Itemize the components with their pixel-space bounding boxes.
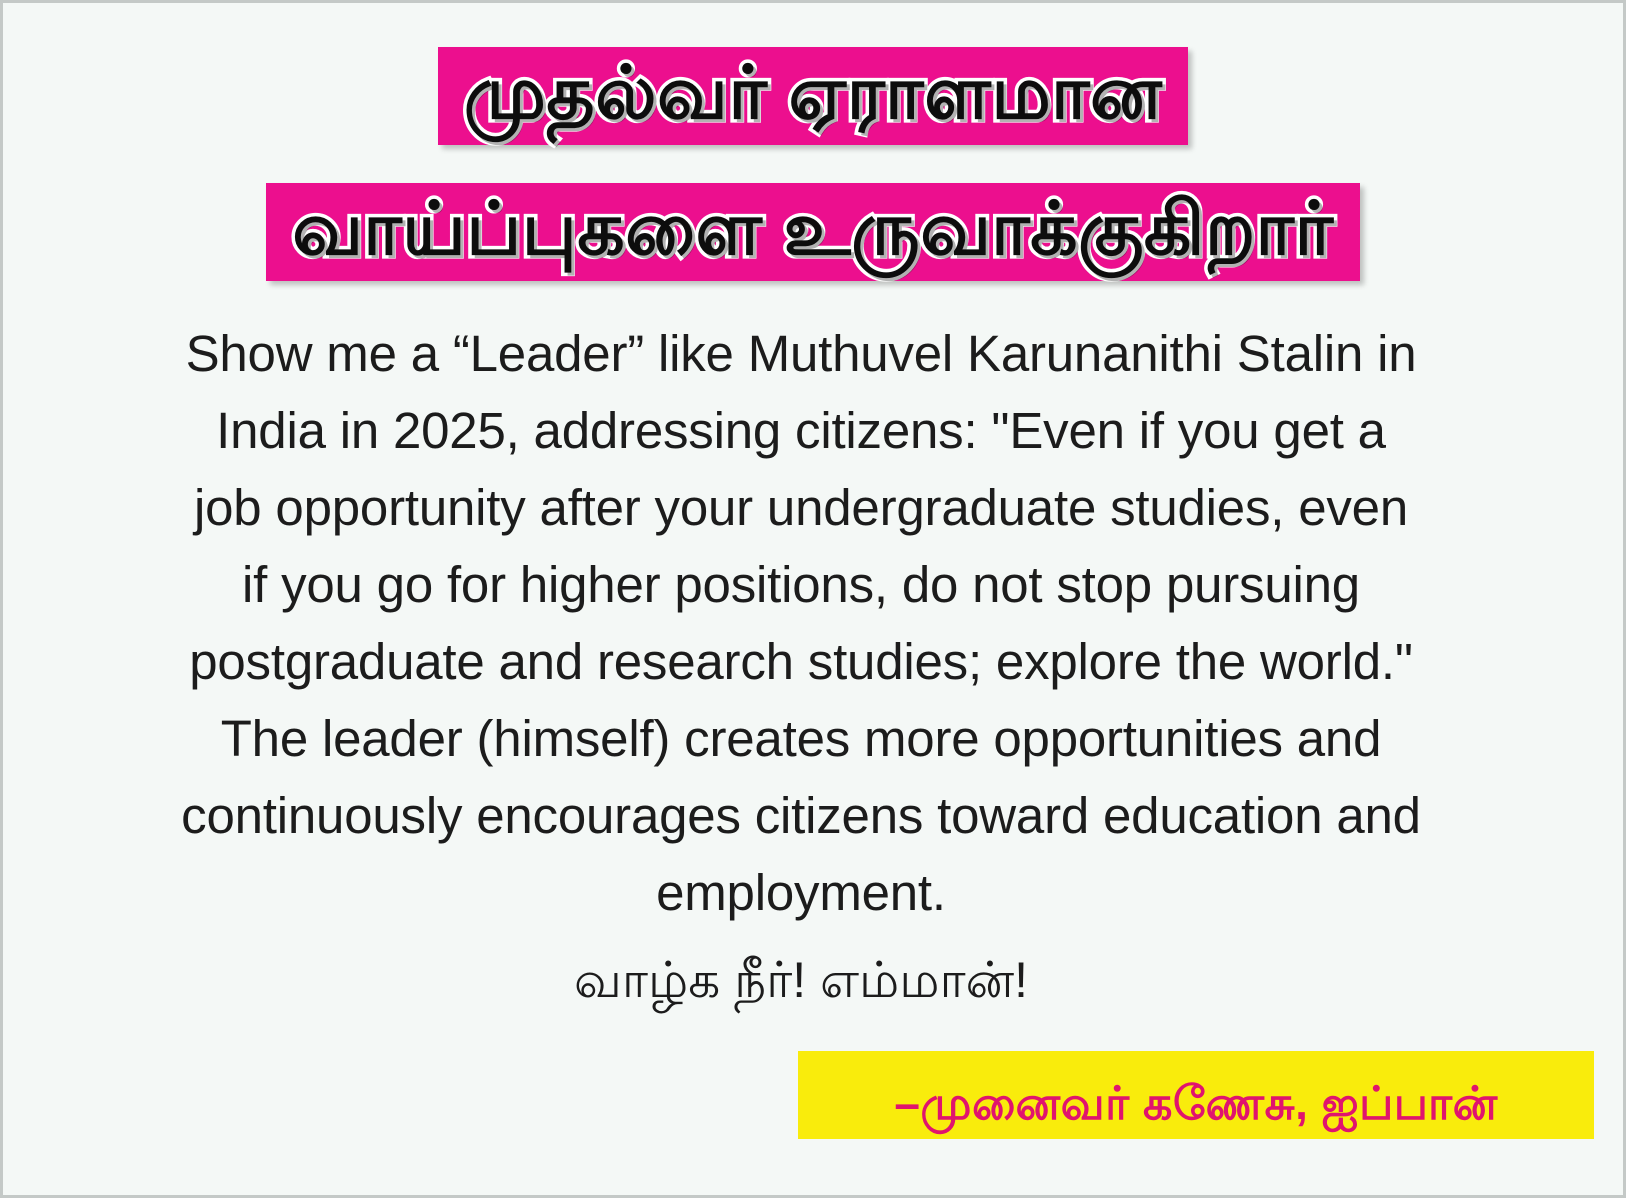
body-line: postgraduate and research studies; explo… bbox=[65, 623, 1537, 700]
body-line: employment. bbox=[65, 854, 1537, 931]
body-line: India in 2025, addressing citizens: "Eve… bbox=[65, 392, 1537, 469]
body-line: job opportunity after your undergraduate… bbox=[65, 469, 1537, 546]
poster-card: முதல்வர் ஏராளமான வாய்ப்புகளை உருவாக்குகி… bbox=[0, 0, 1626, 1198]
heading-row-1: முதல்வர் ஏராளமான bbox=[3, 47, 1623, 145]
body-paragraph: Show me a “Leader” like Muthuvel Karunan… bbox=[65, 315, 1537, 1013]
body-line: if you go for higher positions, do not s… bbox=[65, 546, 1537, 623]
attribution-text: –முனைவர் கணேசு, ஐப்பான் bbox=[894, 1080, 1497, 1126]
heading-bar-2: வாய்ப்புகளை உருவாக்குகிறார் bbox=[266, 183, 1359, 281]
body-line: The leader (himself) creates more opport… bbox=[65, 700, 1537, 777]
heading-bar-1: முதல்வர் ஏராளமான bbox=[438, 47, 1189, 145]
heading-line-1: முதல்வர் ஏராளமான bbox=[464, 53, 1163, 133]
tamil-closing-line: வாழ்க நீர்! எம்மான்! bbox=[65, 947, 1537, 1013]
attribution-bar: –முனைவர் கணேசு, ஐப்பான் bbox=[798, 1051, 1594, 1139]
heading-line-2: வாய்ப்புகளை உருவாக்குகிறார் bbox=[292, 189, 1333, 269]
body-line: continuously encourages citizens toward … bbox=[65, 777, 1537, 854]
heading-block: முதல்வர் ஏராளமான வாய்ப்புகளை உருவாக்குகி… bbox=[3, 47, 1623, 281]
body-line: Show me a “Leader” like Muthuvel Karunan… bbox=[65, 315, 1537, 392]
heading-row-2: வாய்ப்புகளை உருவாக்குகிறார் bbox=[3, 183, 1623, 281]
